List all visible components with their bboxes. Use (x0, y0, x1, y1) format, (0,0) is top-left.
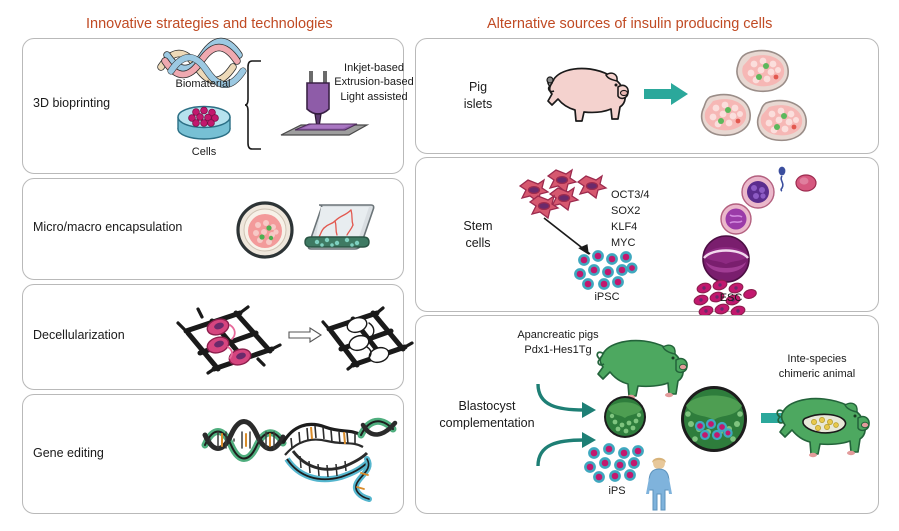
panel-label-stem-cells: Stem cells (438, 218, 518, 251)
blastocyst-early-icon (716, 202, 756, 236)
scaffold-with-cells-icon (178, 303, 288, 373)
panel-label-blastocyst-complementation: Blastocyst complementation (422, 398, 552, 431)
macrodevice-icon (305, 201, 377, 257)
brace-icon (245, 59, 267, 151)
caption-cells: Cells (168, 145, 240, 159)
curved-arrow-top-icon (534, 378, 600, 420)
microcapsule-icon (236, 201, 294, 259)
donor-blastocyst-icon (601, 394, 649, 440)
fibroblasts-icon (520, 166, 616, 216)
panel-label-gene-editing: Gene editing (33, 445, 183, 462)
panel-blastocyst-complementation[interactable]: Blastocyst complementation Apancreatic p… (415, 315, 879, 514)
column-header-left: Innovative strategies and technologies (86, 16, 333, 32)
caption-biomaterial: Biomaterial (147, 77, 259, 91)
oocyte-icon (794, 172, 818, 194)
pig-islets-cluster-icon (704, 45, 824, 145)
transform-arrow-icon (288, 327, 322, 343)
caption-ipsc: iPSC (576, 290, 638, 304)
caption-chimeric-animal: Inte-species chimeric animal (761, 352, 873, 382)
dna-guide-rna-icon (201, 407, 401, 505)
cells-dish-icon (173, 97, 235, 145)
panel-label-encapsulation: Micro/macro encapsulation (33, 219, 233, 236)
panel-label-3d-bioprinting: 3D bioprinting (33, 95, 173, 112)
blastocyst-icon (698, 234, 754, 284)
complemented-blastocyst-icon (678, 384, 750, 454)
panel-gene-editing[interactable]: Gene editing (22, 394, 404, 514)
caption-reprogramming-factors: OCT3/4 SOX2 KLF4 MYC (611, 188, 691, 252)
ipsc-colony-icon (574, 250, 640, 290)
panel-stem-cells[interactable]: Stem cells (415, 157, 879, 312)
panel-3d-bioprinting[interactable]: 3D bioprinting Biomaterial (22, 38, 404, 174)
apancreatic-pig-icon (584, 332, 692, 402)
chimeric-pig-icon (764, 388, 874, 460)
caption-esc: ESC (701, 291, 761, 305)
ips-cells-icon (584, 444, 650, 484)
panel-pig-islets[interactable]: Pig islets (415, 38, 879, 154)
teal-arrow-right-icon (644, 83, 688, 105)
panel-decellularization[interactable]: Decellularization (22, 284, 404, 390)
panel-micro-macro-encapsulation[interactable]: Micro/macro encapsulation (22, 178, 404, 280)
biomaterial-icon (157, 45, 247, 79)
caption-printing-methods: Inkjet-based Extrusion-based Light assis… (321, 61, 427, 104)
panel-label-pig-islets: Pig islets (438, 79, 518, 112)
decellularized-scaffold-icon (323, 303, 415, 371)
pig-icon (534, 61, 634, 127)
column-header-right: Alternative sources of insulin producing… (487, 16, 772, 32)
human-figure-icon (644, 456, 674, 512)
caption-ips: iPS (588, 484, 646, 498)
